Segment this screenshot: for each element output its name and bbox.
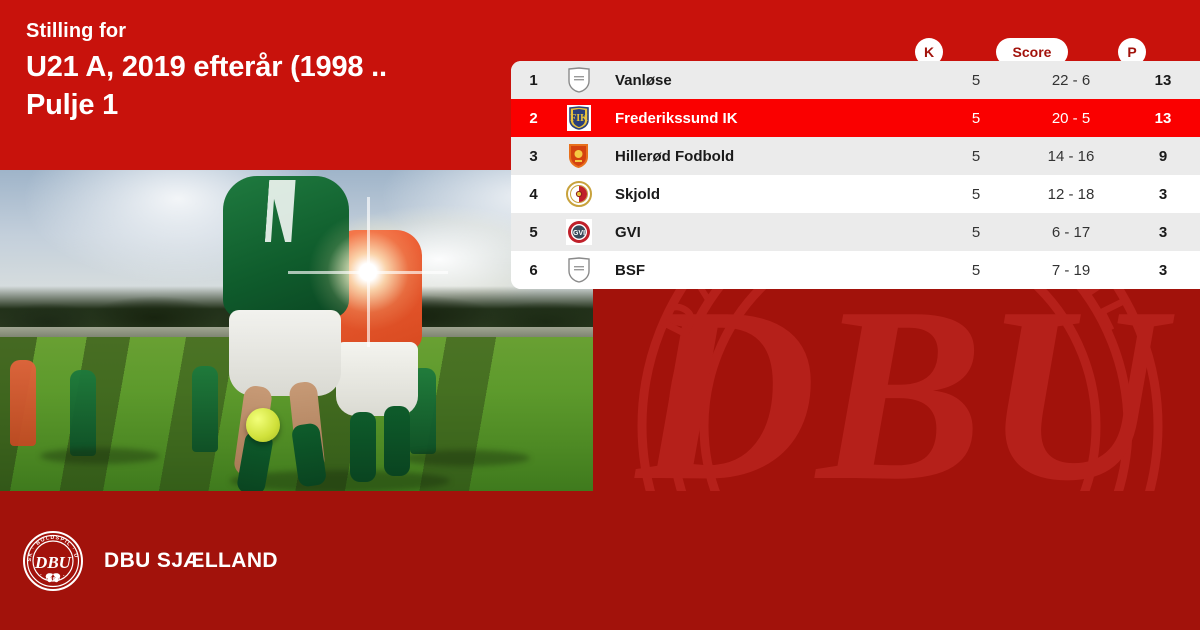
row-position: 6 <box>511 262 556 279</box>
row-team-name: BSF <box>601 262 936 279</box>
photo-orange-sock <box>384 406 410 476</box>
table-row[interactable]: 5 GVI GVI 5 6 - 17 3 <box>511 213 1200 251</box>
photo-background-player <box>10 360 36 446</box>
svg-text:· 1889 ·: · 1889 · <box>38 572 68 583</box>
row-team-name: GVI <box>601 224 936 241</box>
hero-photo <box>0 170 593 491</box>
svg-text:GVI: GVI <box>572 230 584 237</box>
row-team-name: Skjold <box>601 186 936 203</box>
svg-text:FIK: FIK <box>570 113 588 124</box>
footer-bar: DBU DANSK · BOLDSPIL · UNION · 1889 · DB… <box>0 491 1200 630</box>
row-club-crest <box>556 257 601 283</box>
photo-shadow <box>40 448 160 464</box>
row-position: 1 <box>511 72 556 89</box>
row-score: 6 - 17 <box>1016 224 1126 241</box>
table-row[interactable]: 2 FIK Frederikssund IK 5 20 - 5 13 <box>511 99 1200 137</box>
row-matches: 5 <box>936 262 1016 279</box>
row-matches: 5 <box>936 148 1016 165</box>
row-club-crest: GVI <box>556 219 601 245</box>
row-team-name: Hillerød Fodbold <box>601 148 936 165</box>
table-row[interactable]: 4 Skjold 5 12 - 18 3 <box>511 175 1200 213</box>
row-score: 20 - 5 <box>1016 110 1126 127</box>
row-points: 9 <box>1126 148 1200 165</box>
row-team-name: Vanløse <box>601 72 936 89</box>
photo-football <box>246 408 280 442</box>
table-row[interactable]: 6 BSF 5 7 - 19 3 <box>511 251 1200 289</box>
photo-background-player <box>70 370 96 456</box>
row-club-crest: FIK <box>556 105 601 131</box>
dbu-logo-icon: DBU DANSK · BOLDSPIL · UNION · 1889 · <box>22 530 84 592</box>
header-kicker: Stilling for <box>26 18 496 44</box>
footer-organisation: DBU SJÆLLAND <box>104 549 278 573</box>
table-row[interactable]: 1 Vanløse 5 22 - 6 13 <box>511 61 1200 99</box>
row-score: 12 - 18 <box>1016 186 1126 203</box>
page-title-line2: Pulje 1 <box>26 86 496 124</box>
row-club-crest <box>556 67 601 93</box>
row-points: 3 <box>1126 186 1200 203</box>
standings-table: 1 Vanløse 5 22 - 6 13 2 FIK <box>511 61 1200 289</box>
row-points: 3 <box>1126 224 1200 241</box>
row-matches: 5 <box>936 72 1016 89</box>
row-position: 3 <box>511 148 556 165</box>
row-team-name: Frederikssund IK <box>601 110 936 127</box>
row-position: 2 <box>511 110 556 127</box>
row-club-crest <box>556 143 601 169</box>
row-score: 14 - 16 <box>1016 148 1126 165</box>
table-row[interactable]: 3 Hillerød Fodbold 5 14 - 16 9 <box>511 137 1200 175</box>
svg-text:DBU: DBU <box>34 553 72 572</box>
row-position: 4 <box>511 186 556 203</box>
row-points: 13 <box>1126 110 1200 127</box>
row-matches: 5 <box>936 186 1016 203</box>
row-position: 5 <box>511 224 556 241</box>
header-text: Stilling for U21 A, 2019 efterår (1998 .… <box>26 18 496 124</box>
photo-sun-flare <box>308 212 428 332</box>
row-score: 7 - 19 <box>1016 262 1126 279</box>
row-points: 3 <box>1126 262 1200 279</box>
row-points: 13 <box>1126 72 1200 89</box>
row-score: 22 - 6 <box>1016 72 1126 89</box>
row-matches: 5 <box>936 224 1016 241</box>
row-matches: 5 <box>936 110 1016 127</box>
standings-poster: DBU DANSK BOLDSPIL 1889 Stilling for U21… <box>0 0 1200 630</box>
row-club-crest <box>556 181 601 207</box>
page-title-line1: U21 A, 2019 efterår (1998 .. <box>26 48 496 86</box>
